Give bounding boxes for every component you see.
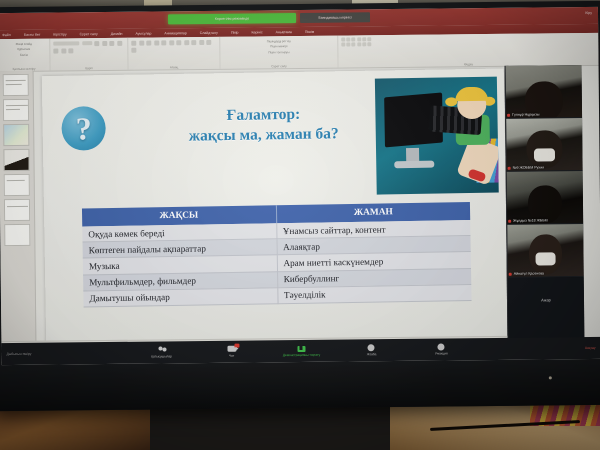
mic-muted-icon xyxy=(509,272,512,275)
ribbon-tab-home[interactable]: Басты бет xyxy=(24,32,41,36)
shape-pentagon-icon[interactable] xyxy=(367,42,371,46)
align-right-icon[interactable] xyxy=(191,40,196,45)
record-label: Жазба xyxy=(367,352,377,356)
ribbon-tab-slideshow[interactable]: Слайд-шоу xyxy=(200,30,218,34)
video-tile[interactable]: Айнагүл Қасенова xyxy=(507,224,584,278)
ribbon-group-font[interactable]: Қаріп xyxy=(50,38,128,71)
participant-name: Гүлнұр Нұрқызы xyxy=(512,112,539,116)
ribbon-group-font-title: Қаріп xyxy=(54,66,125,71)
ribbon-item-quick-style[interactable]: Пішін мәнері xyxy=(270,44,287,48)
ribbon-tab-design[interactable]: Дизайн xyxy=(111,31,123,35)
shape-oval-icon[interactable] xyxy=(352,37,356,41)
participant-name: №9 ЖОББМ Рухия xyxy=(513,165,545,169)
ribbon-group-drawing-title: Сурет салу xyxy=(224,64,335,69)
thumbnail-slide-6[interactable] xyxy=(4,199,30,221)
line-spacing-icon[interactable] xyxy=(161,40,166,45)
shape-line-icon[interactable] xyxy=(341,42,345,46)
convert-smartart-icon[interactable] xyxy=(131,48,136,53)
justify-icon[interactable] xyxy=(199,39,204,44)
shape-banner-icon[interactable] xyxy=(357,42,361,46)
mic-muted-icon xyxy=(508,219,511,222)
mic-muted-icon xyxy=(507,113,510,116)
video-participant-strip[interactable]: Гүлнұр Нұрқызы №9 ЖОББМ Рухия Жұлдыз №18… xyxy=(505,65,585,358)
chat-button[interactable]: Чат xyxy=(209,345,253,357)
shadow-icon[interactable] xyxy=(117,40,122,45)
thumbnail-slide-3[interactable] xyxy=(3,124,29,146)
share-screen-icon xyxy=(297,346,305,352)
thumbnail-slide-7[interactable] xyxy=(4,224,30,246)
reactions-button[interactable]: Реакция xyxy=(419,343,463,355)
char-spacing-icon[interactable] xyxy=(61,48,66,53)
ribbon-tab-format[interactable]: Пішім xyxy=(305,29,314,33)
participants-icon xyxy=(157,346,166,352)
question-mark-badge: ? xyxy=(61,106,106,151)
shape-rectangle-icon[interactable] xyxy=(341,37,345,41)
thumbnail-slide-4[interactable] xyxy=(3,149,29,171)
ribbon-tab-insert[interactable]: Кірістіру xyxy=(53,32,66,36)
mic-muted-icon xyxy=(508,166,511,169)
shape-star-icon[interactable] xyxy=(367,37,371,41)
text-direction-icon[interactable] xyxy=(169,40,174,45)
strikethrough-icon[interactable] xyxy=(53,49,58,54)
illustration-girl-hair xyxy=(455,87,488,102)
thumbnail-slide-2[interactable] xyxy=(3,99,29,121)
thumbnail-slide-1[interactable] xyxy=(3,74,29,96)
font-name-box[interactable] xyxy=(53,41,79,45)
screen: Көрсетілім режимінде Баяндамашы көрінісі… xyxy=(0,7,600,365)
decrease-indent-icon[interactable] xyxy=(146,40,151,45)
monitor-bezel xyxy=(0,359,600,411)
participants-button[interactable]: Қатысушылар xyxy=(139,346,183,358)
share-screen-label: Демонстрацияны тоқтату xyxy=(283,353,320,357)
shape-arrow-icon[interactable] xyxy=(362,37,366,41)
thumbnail-slide-5[interactable] xyxy=(4,174,30,196)
shape-callout-icon[interactable] xyxy=(352,42,356,46)
participant-name: Айнагүл Қасенова xyxy=(514,271,544,275)
shape-rounded-icon[interactable] xyxy=(346,37,350,41)
reactions-icon xyxy=(437,344,444,351)
table-cell-good: Дамытушы ойындар xyxy=(83,287,277,306)
share-screen-button[interactable]: Демонстрацияны тоқтату xyxy=(279,345,323,357)
ribbon-item-arrange[interactable]: Пішіндерді реттеу xyxy=(267,39,291,43)
monitor: Көрсетілім режимінде Баяндамашы көрінісі… xyxy=(0,1,600,411)
ribbon-tab-view[interactable]: Көрініс xyxy=(251,30,262,34)
slide-title: Ғаламтор: жақсы ма, жаман ба? xyxy=(138,103,389,147)
ribbon-tab-draw[interactable]: Сурет салу xyxy=(80,32,98,36)
ribbon-group-slides[interactable]: Жаңа слайд Құрылым Бөлім Қалпына келтіру xyxy=(0,39,51,72)
ribbon-tab-transitions[interactable]: Ауысулар xyxy=(135,31,151,35)
font-color-icon[interactable] xyxy=(68,48,73,53)
participants-label: Қатысушылар xyxy=(151,354,172,358)
numbering-icon[interactable] xyxy=(139,40,144,45)
end-meeting-button[interactable]: Аяқтау xyxy=(585,346,596,350)
ribbon-group-paragraph[interactable]: Абзац xyxy=(128,37,220,70)
align-left-icon[interactable] xyxy=(176,40,181,45)
video-tile[interactable]: Жұлдыз №18 ЖББМ xyxy=(507,171,584,225)
slide-thumbnail-pane[interactable] xyxy=(0,71,37,363)
ribbon-group-drawing[interactable]: Пішіндерді реттеу Пішін мәнері Пішін тол… xyxy=(220,36,338,69)
power-led-icon xyxy=(549,376,552,379)
ribbon-tab-review[interactable]: Пікір xyxy=(231,30,239,34)
participant-name-placeholder: Ажар xyxy=(508,297,584,303)
presenter-view-label: Баяндамашы көрінісі xyxy=(300,12,370,23)
video-tile[interactable]: №9 ЖОББМ Рухия xyxy=(506,118,583,172)
ribbon-group-paragraph-title: Абзац xyxy=(132,65,217,70)
question-mark-glyph: ? xyxy=(61,106,106,151)
presentation-mode-label: Көрсетілім режимінде xyxy=(168,13,296,24)
face-mask xyxy=(534,148,555,161)
shape-gallery[interactable] xyxy=(341,34,595,46)
ribbon-tab-file[interactable]: Файл xyxy=(2,33,11,37)
ribbon-group-shapes[interactable]: Өңдеу xyxy=(338,33,598,68)
slide-canvas[interactable]: ? Ғаламтор: жақсы ма, жаман ба? xyxy=(42,68,509,362)
record-button[interactable]: Жазба xyxy=(349,344,393,356)
notification-badge-icon xyxy=(234,344,239,348)
comparison-table: ЖАҚСЫ ЖАМАН Оқуда көмек береді Ұнамсыз с… xyxy=(82,202,472,307)
illustration-image xyxy=(375,77,499,195)
ribbon-item-new-slide[interactable]: Жаңа слайд xyxy=(16,41,32,45)
record-icon xyxy=(367,344,374,351)
increase-indent-icon[interactable] xyxy=(154,40,159,45)
ribbon-item-section[interactable]: Бөлім xyxy=(20,52,28,56)
reactions-label: Реакция xyxy=(435,351,447,355)
ribbon-item-shape-fill[interactable]: Пішін толтыруы xyxy=(268,50,289,54)
camera-icon xyxy=(227,346,236,352)
shape-diamond-icon[interactable] xyxy=(362,42,366,46)
ribbon-tab-animations[interactable]: Анимациялар xyxy=(164,31,186,35)
mute-label[interactable]: Дыбысын өшіру xyxy=(7,352,32,356)
account-label[interactable]: Кіру xyxy=(585,11,592,15)
underline-icon[interactable] xyxy=(109,40,114,45)
chat-label: Чат xyxy=(229,354,234,358)
ribbon-tab-help[interactable]: Анықтама xyxy=(276,30,292,34)
video-tile[interactable]: Гүлнұр Нұрқызы xyxy=(506,65,583,119)
align-center-icon[interactable] xyxy=(184,40,189,45)
italic-icon[interactable] xyxy=(102,41,107,46)
shape-curve-icon[interactable] xyxy=(346,42,350,46)
presenter-view-button[interactable]: Баяндамашы көрінісі xyxy=(300,12,370,23)
illustration-monitor-base xyxy=(394,161,434,169)
table-cell-bad: Тәуелділік xyxy=(277,284,471,303)
bullets-icon[interactable] xyxy=(131,40,136,45)
shape-triangle-icon[interactable] xyxy=(357,37,361,41)
font-size-box[interactable] xyxy=(82,41,92,45)
participant-name: Жұлдыз №18 ЖББМ xyxy=(513,218,547,222)
presentation-mode-banner[interactable]: Көрсетілім режимінде xyxy=(168,13,296,24)
bold-icon[interactable] xyxy=(94,41,99,46)
columns-icon[interactable] xyxy=(206,39,211,44)
ribbon-item-outline[interactable]: Құрылым xyxy=(18,47,31,51)
face-mask xyxy=(536,252,556,265)
slide-title-line-2: жақсы ма, жаман ба? xyxy=(139,123,389,147)
